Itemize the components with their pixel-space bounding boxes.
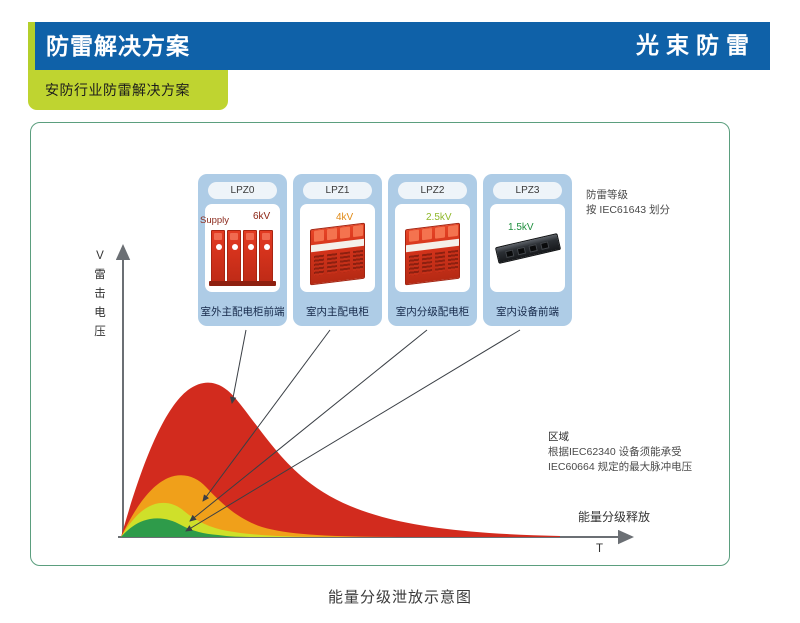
- lpz-chip-label: LPZ1: [303, 182, 372, 199]
- lpz-card-0[interactable]: LPZ0 室外主配电柜前端: [198, 174, 287, 326]
- spd-2module-icon: [310, 223, 365, 286]
- lpz-chip-label: LPZ3: [493, 182, 562, 199]
- figure-caption: 能量分级泄放示意图: [0, 586, 800, 607]
- note-grade-body: 按 IEC61643 划分: [586, 203, 670, 218]
- spd-2module-icon: [405, 223, 460, 286]
- page-root: 防雷解决方案 光束防雷 安防行业防雷解决方案: [0, 0, 800, 623]
- x-axis-label: 能量分级释放: [578, 509, 650, 525]
- y-axis-label: V 雷击电压: [92, 247, 108, 342]
- subtitle-tab-label: 安防行业防雷解决方案: [45, 80, 190, 100]
- note-zone: 区域 根据IEC62340 设备须能承受 IEC60664 规定的最大脉冲电压: [548, 430, 692, 475]
- t-axis-label: T: [596, 542, 603, 556]
- kv-label-lpz0: 6kV: [253, 211, 270, 223]
- note-grade-title: 防雷等级: [586, 188, 670, 203]
- note-zone-title: 区域: [548, 430, 692, 445]
- lpz-chip-label: LPZ0: [208, 182, 277, 199]
- note-lightning-grade: 防雷等级 按 IEC61643 划分: [586, 188, 670, 218]
- spd-4module-icon: [211, 230, 274, 282]
- lpz-device-panel: [490, 204, 565, 292]
- supply-label: Supply: [200, 215, 229, 227]
- note-zone-line2: IEC60664 规定的最大脉冲电压: [548, 460, 692, 475]
- pdu-strip-icon: [495, 233, 561, 264]
- lpz-caption: 室内设备前端: [483, 305, 572, 319]
- lpz-caption: 室内主配电柜: [293, 305, 382, 319]
- note-zone-line1: 根据IEC62340 设备须能承受: [548, 445, 692, 460]
- lpz-card-3[interactable]: LPZ3 室内设备前端: [483, 174, 572, 326]
- lpz-chip-label: LPZ2: [398, 182, 467, 199]
- kv-label-lpz3: 1.5kV: [508, 222, 534, 234]
- lpz-caption: 室外主配电柜前端: [198, 305, 287, 319]
- lpz-card-2[interactable]: LPZ2 室内分级配电柜: [388, 174, 477, 326]
- page-title: 防雷解决方案: [46, 30, 190, 62]
- kv-label-lpz2: 2.5kV: [426, 212, 452, 224]
- lpz-caption: 室内分级配电柜: [388, 305, 477, 319]
- brand-name: 光束防雷: [636, 29, 756, 61]
- header-accent-stripe: [28, 22, 35, 70]
- kv-label-lpz1: 4kV: [336, 212, 353, 224]
- lpz-card-1[interactable]: LPZ1 室内主配电柜: [293, 174, 382, 326]
